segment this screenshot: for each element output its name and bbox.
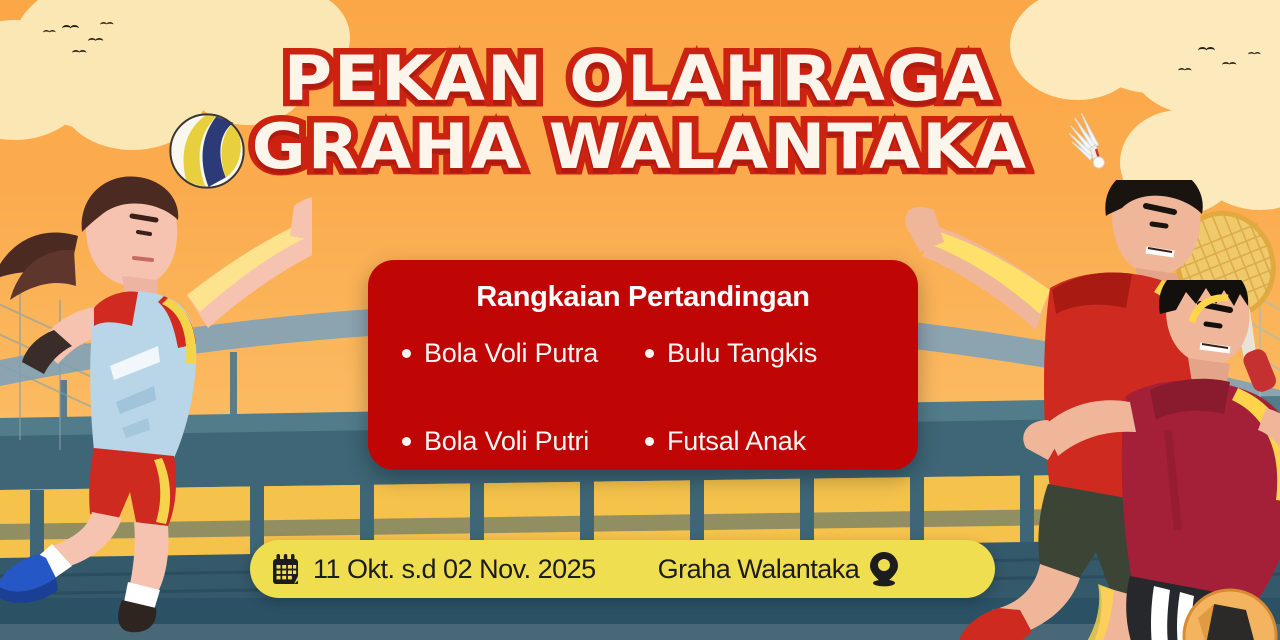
bullet-icon [645, 437, 654, 446]
sport-list: Bola Voli Putra Bulu Tangkis Bola Voli P… [368, 338, 918, 457]
sport-label: Bola Voli Putri [424, 426, 589, 457]
venue-group: Graha Walantaka [658, 551, 900, 587]
sport-item-bulu-tangkis: Bulu Tangkis [645, 338, 888, 369]
bullet-icon [645, 349, 654, 358]
sport-item-bola-voli-putri: Bola Voli Putri [402, 426, 645, 457]
poster-title: PEKAN OLAHRAGA GRAHA WALANTAKA [0, 48, 1280, 184]
location-pin-icon [869, 551, 899, 587]
match-list-heading: Rangkaian Pertandingan [368, 281, 918, 314]
futsal-player-male [1018, 280, 1280, 640]
event-poster: PEKAN OLAHRAGA GRAHA WALANTAKA Rangkaian… [0, 0, 1280, 640]
sport-label: Bola Voli Putra [424, 338, 598, 369]
bullet-icon [402, 437, 411, 446]
sport-label: Bulu Tangkis [667, 338, 817, 369]
bullet-icon [402, 349, 411, 358]
calendar-icon [270, 553, 301, 586]
date-group: 11 Okt. s.d 02 Nov. 2025 [270, 553, 596, 586]
match-list-panel: Rangkaian Pertandingan Bola Voli Putra B… [368, 260, 918, 470]
event-venue: Graha Walantaka [658, 554, 860, 585]
sport-label: Futsal Anak [667, 426, 806, 457]
sport-item-futsal-anak: Futsal Anak [645, 426, 888, 457]
sport-item-bola-voli-putra: Bola Voli Putra [402, 338, 645, 369]
title-line-2: GRAHA WALANTAKA [0, 116, 1280, 178]
event-date: 11 Okt. s.d 02 Nov. 2025 [313, 554, 596, 585]
event-details-banner: 11 Okt. s.d 02 Nov. 2025 Graha Walantaka [250, 540, 995, 598]
title-line-1: PEKAN OLAHRAGA [0, 48, 1280, 110]
